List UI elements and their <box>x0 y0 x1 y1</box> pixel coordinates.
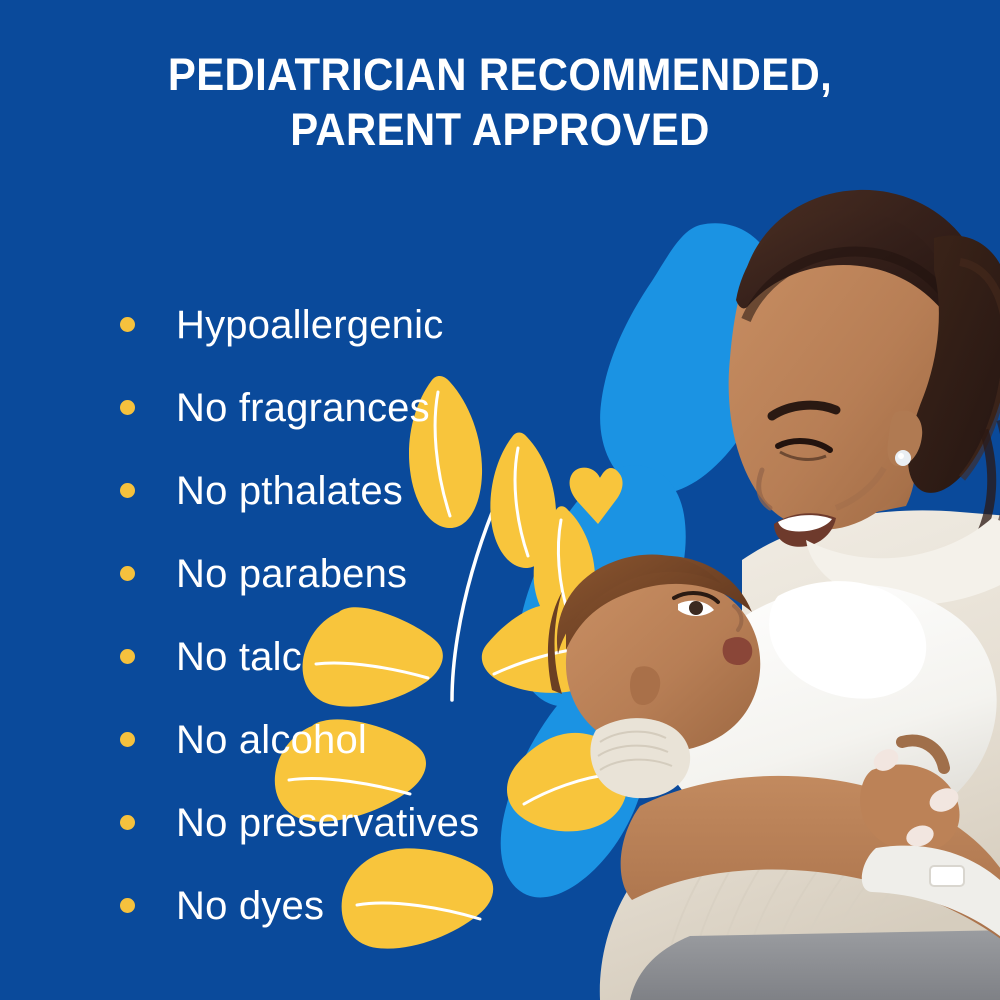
claims-list: Hypoallergenic No fragrances No pthalate… <box>120 283 590 947</box>
bullet-dot-icon <box>120 483 135 498</box>
garment-tag <box>930 866 964 886</box>
claim-label: No fragrances <box>176 388 430 428</box>
bullet-dot-icon <box>120 317 135 332</box>
bullet-dot-icon <box>120 566 135 581</box>
page-title: PEDIATRICIAN RECOMMENDED, PARENT APPROVE… <box>35 48 965 158</box>
list-item: No preservatives <box>120 781 590 864</box>
claim-label: Hypoallergenic <box>176 305 443 345</box>
bullet-dot-icon <box>120 732 135 747</box>
claim-label: No talc <box>176 637 302 677</box>
list-item: No fragrances <box>120 366 590 449</box>
fingernail <box>904 822 937 850</box>
claim-label: No pthalates <box>176 471 403 511</box>
bullet-dot-icon <box>120 815 135 830</box>
claim-label: No dyes <box>176 886 324 926</box>
claim-label: No alcohol <box>176 720 367 760</box>
bullet-dot-icon <box>120 400 135 415</box>
hand <box>860 740 962 852</box>
fingernail <box>870 745 903 775</box>
fingernail <box>926 784 962 816</box>
earring <box>895 450 911 466</box>
list-item: No parabens <box>120 532 590 615</box>
mother-and-baby-photo <box>548 190 1000 1000</box>
list-item: No dyes <box>120 864 590 947</box>
list-item: No alcohol <box>120 698 590 781</box>
product-claims-poster: PEDIATRICIAN RECOMMENDED, PARENT APPROVE… <box>0 0 1000 1000</box>
list-item: Hypoallergenic <box>120 283 590 366</box>
bullet-dot-icon <box>120 649 135 664</box>
list-item: No pthalates <box>120 449 590 532</box>
claim-label: No preservatives <box>176 803 479 843</box>
claim-label: No parabens <box>176 554 407 594</box>
list-item: No talc <box>120 615 590 698</box>
bullet-dot-icon <box>120 898 135 913</box>
